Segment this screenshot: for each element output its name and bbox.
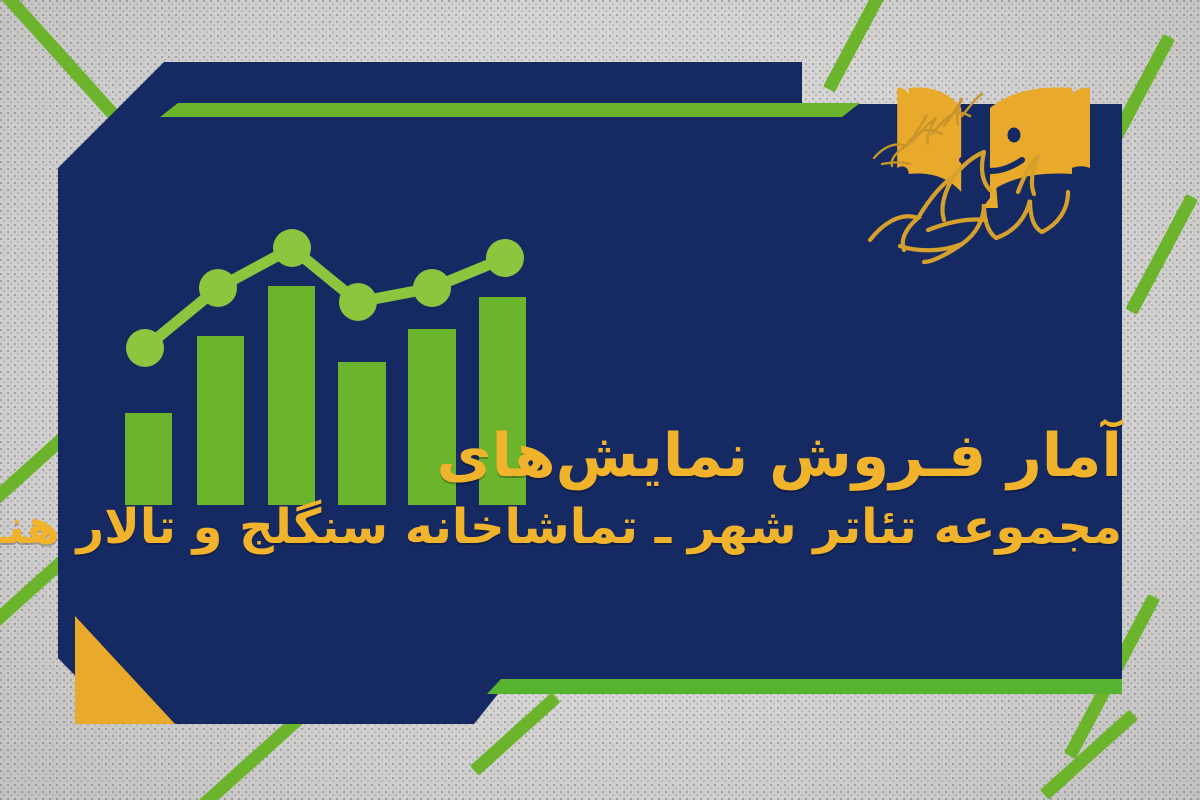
chart-marker-2	[199, 269, 237, 307]
chart-marker-1	[126, 329, 164, 367]
panel-top-green-rule	[160, 103, 860, 117]
chart-trend-markers	[126, 229, 524, 367]
headline-block: آمار فـروش نمایش‌های مجموعه تئاتر شهر ـ …	[162, 424, 1122, 555]
headline-line-2: مجموعه تئاتر شهر ـ تماشاخانه سنگلج و تال…	[162, 501, 1122, 555]
chart-marker-4	[339, 283, 377, 321]
chart-marker-3	[273, 229, 311, 267]
organisation-logo	[866, 72, 1114, 272]
poster-canvas: آمار فـروش نمایش‌های مجموعه تئاتر شهر ـ …	[0, 0, 1200, 800]
headline-line-1: آمار فـروش نمایش‌های	[162, 424, 1122, 489]
open-book-smiling-face-icon	[897, 88, 1090, 208]
chart-marker-6	[486, 239, 524, 277]
panel-bottom-green-rule	[487, 679, 1122, 694]
chart-marker-5	[413, 269, 451, 307]
